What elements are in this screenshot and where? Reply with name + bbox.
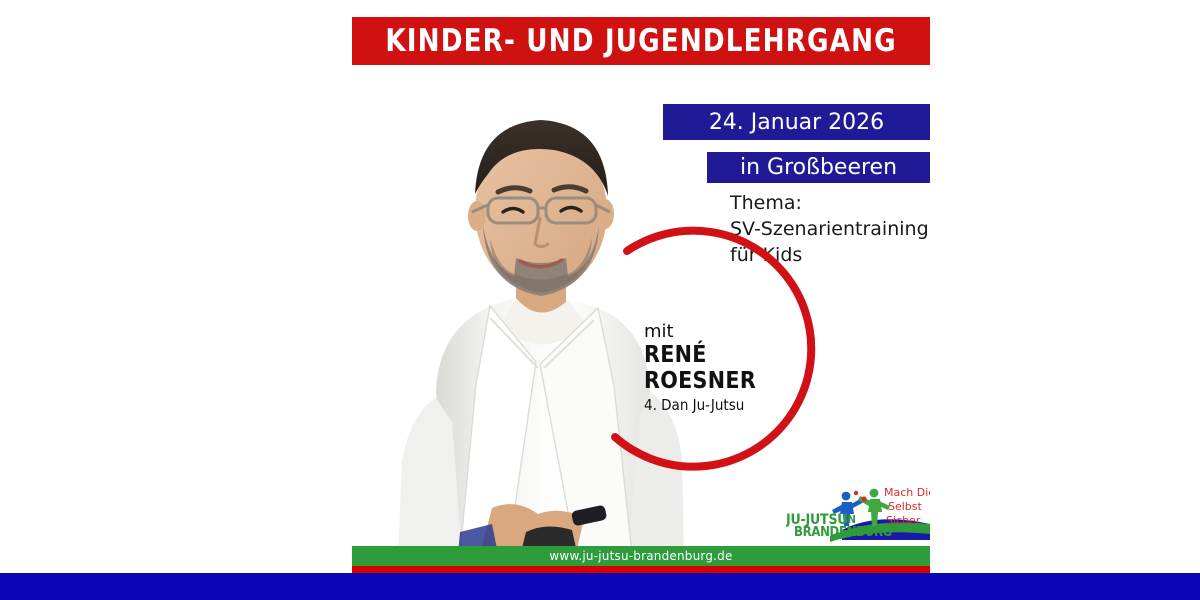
logo-red-dot-1 (861, 496, 866, 501)
website-url[interactable]: www.ju-jutsu-brandenburg.de (549, 549, 732, 563)
page-bottom-blue-band (0, 573, 1200, 600)
trainer-with-label: mit (644, 322, 824, 342)
organization-logo: JU-JUTSU IN BRANDENBURG Mach Dich Selbst… (786, 484, 930, 546)
logo-slogan-line-2: Selbst (888, 500, 923, 513)
trainer-credit: mit RENÉ ROESNER 4. Dan Ju-Jutsu (644, 322, 824, 415)
logo-slogan-line-3: Sicher (886, 514, 921, 527)
event-poster: Kinder- und Jugendlehrgang (352, 0, 930, 573)
trainer-first-name: RENÉ (644, 342, 824, 368)
logo-org-line-2: BRANDENBURG (794, 525, 892, 540)
trainer-photo (352, 62, 710, 554)
topic-line-2: für Kids (730, 242, 930, 268)
poster-title-banner: Kinder- und Jugendlehrgang (352, 17, 930, 65)
trainer-last-name: ROESNER (644, 368, 824, 394)
topic-line-1: SV-Szenarientraining (730, 216, 930, 242)
event-location-text: in Großbeeren (740, 155, 897, 180)
event-date-text: 24. Januar 2026 (709, 110, 884, 135)
logo-slogan-line-1: Mach Dich (884, 486, 930, 499)
logo-red-dot-2 (854, 491, 858, 495)
footer-red-bar (352, 566, 930, 573)
event-topic: Thema: SV-Szenarientraining für Kids (730, 190, 930, 268)
event-location-badge: in Großbeeren (707, 152, 930, 183)
page-root: Kinder- und Jugendlehrgang (0, 0, 1200, 600)
footer-green-bar: www.ju-jutsu-brandenburg.de (352, 546, 930, 566)
page-title: Kinder- und Jugendlehrgang (385, 23, 897, 59)
trainer-rank: 4. Dan Ju-Jutsu (644, 395, 824, 415)
event-date-badge: 24. Januar 2026 (663, 104, 930, 140)
topic-label: Thema: (730, 190, 930, 216)
